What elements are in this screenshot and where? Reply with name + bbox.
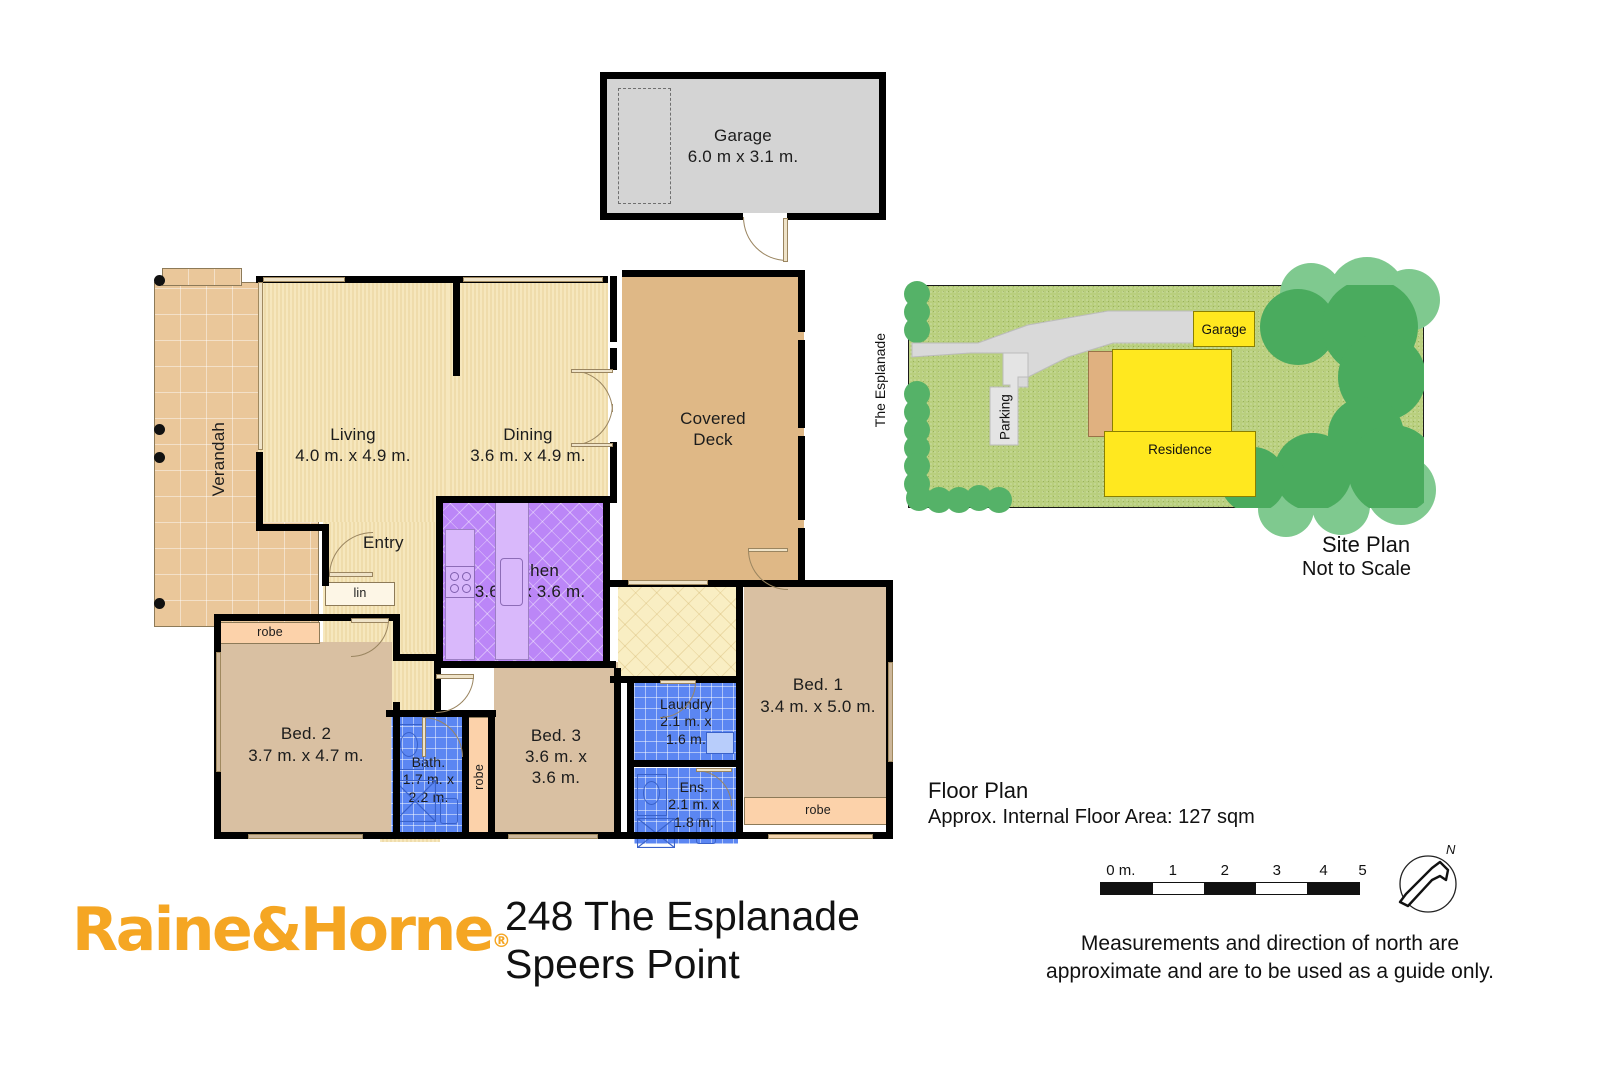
shower-icon	[394, 780, 436, 822]
bed2-room: Bed. 23.7 m. x 4.7 m.	[220, 642, 392, 837]
scale-bar-segments	[1100, 882, 1360, 895]
scale-note: Measurements and direction of north are …	[960, 930, 1580, 987]
property-address: 248 The Esplanade Speers Point	[505, 893, 860, 988]
house-floorplan: Verandah Living4.0 m. x 4.9 m. Entry Din…	[148, 262, 900, 840]
cooktop-icon	[445, 566, 475, 598]
garage-label: Garage6.0 m x 3.1 m.	[688, 125, 799, 168]
bed1-label: Bed. 13.4 m. x 5.0 m.	[760, 674, 875, 717]
street-label: The Esplanade	[872, 333, 888, 427]
kitchen-sink-icon	[500, 558, 523, 606]
floor-plan-title: Floor Plan	[928, 778, 1028, 804]
scale-tick: 0 m.	[1106, 862, 1135, 879]
entry-door-leaf	[329, 572, 373, 577]
verandah-post	[154, 424, 165, 435]
site-residence-rear	[1104, 431, 1256, 497]
bed3-label: Bed. 33.6 m. x 3.6 m.	[525, 725, 587, 789]
bed3-room: Bed. 33.6 m. x 3.6 m.	[494, 662, 618, 837]
scale-tick: 4	[1319, 862, 1327, 879]
compass-rose: N	[1388, 840, 1468, 920]
verandah-post	[154, 598, 165, 609]
scale-tick: 5	[1358, 862, 1366, 879]
garage-block: Garage6.0 m x 3.1 m.	[600, 72, 886, 220]
scale-ticks: 0 m. 1 2 3 4 5	[1100, 862, 1360, 882]
covered-deck-label: Covered Deck	[680, 408, 746, 451]
toilet-icon	[440, 798, 458, 824]
ensuite-toilet-icon	[696, 818, 716, 844]
site-plan-subtitle: Not to Scale	[1302, 558, 1411, 581]
laundry-tub-icon	[706, 732, 734, 754]
scale-bar: 0 m. 1 2 3 4 5	[1100, 862, 1360, 895]
scale-tick: 3	[1273, 862, 1281, 879]
site-plan-title: Site Plan	[1322, 532, 1410, 558]
scale-tick: 2	[1221, 862, 1229, 879]
kitchen-label: Kitchen3.6 m x 3.6 m.	[475, 560, 586, 603]
garage-door-arc	[743, 217, 787, 261]
bath-basin-bowl-icon	[400, 732, 418, 757]
bed1-room: Bed. 13.4 m. x 5.0 m.	[744, 582, 892, 797]
bed3-door-arc	[436, 675, 474, 713]
ensuite-basin-bowl-icon	[643, 781, 660, 805]
verandah-post	[154, 275, 165, 286]
dining-label: Dining3.6 m. x 4.9 m.	[470, 424, 585, 467]
compass-north-label: N	[1446, 842, 1456, 857]
verandah-post	[154, 452, 165, 463]
garage-door-leaf	[783, 218, 788, 262]
site-residence	[1112, 349, 1232, 433]
rear-hall	[618, 582, 738, 682]
agency-logo: Raine&Horne®	[72, 895, 511, 965]
site-garage	[1193, 311, 1255, 347]
covered-deck: Covered Deck	[622, 276, 804, 586]
floor-area-text: Approx. Internal Floor Area: 127 sqm	[928, 806, 1255, 829]
floor-plan-page: Garage6.0 m x 3.1 m. Verandah Living4.0 …	[0, 0, 1620, 1080]
living-room: Living4.0 m. x 4.9 m.	[258, 282, 448, 522]
garage-roller-door	[618, 88, 671, 204]
living-label: Living4.0 m. x 4.9 m.	[295, 424, 410, 467]
site-plan: Parking Garage Residence The Esplanade	[908, 285, 1424, 508]
scale-tick: 1	[1169, 862, 1177, 879]
bed2-label: Bed. 23.7 m. x 4.7 m.	[248, 723, 363, 766]
